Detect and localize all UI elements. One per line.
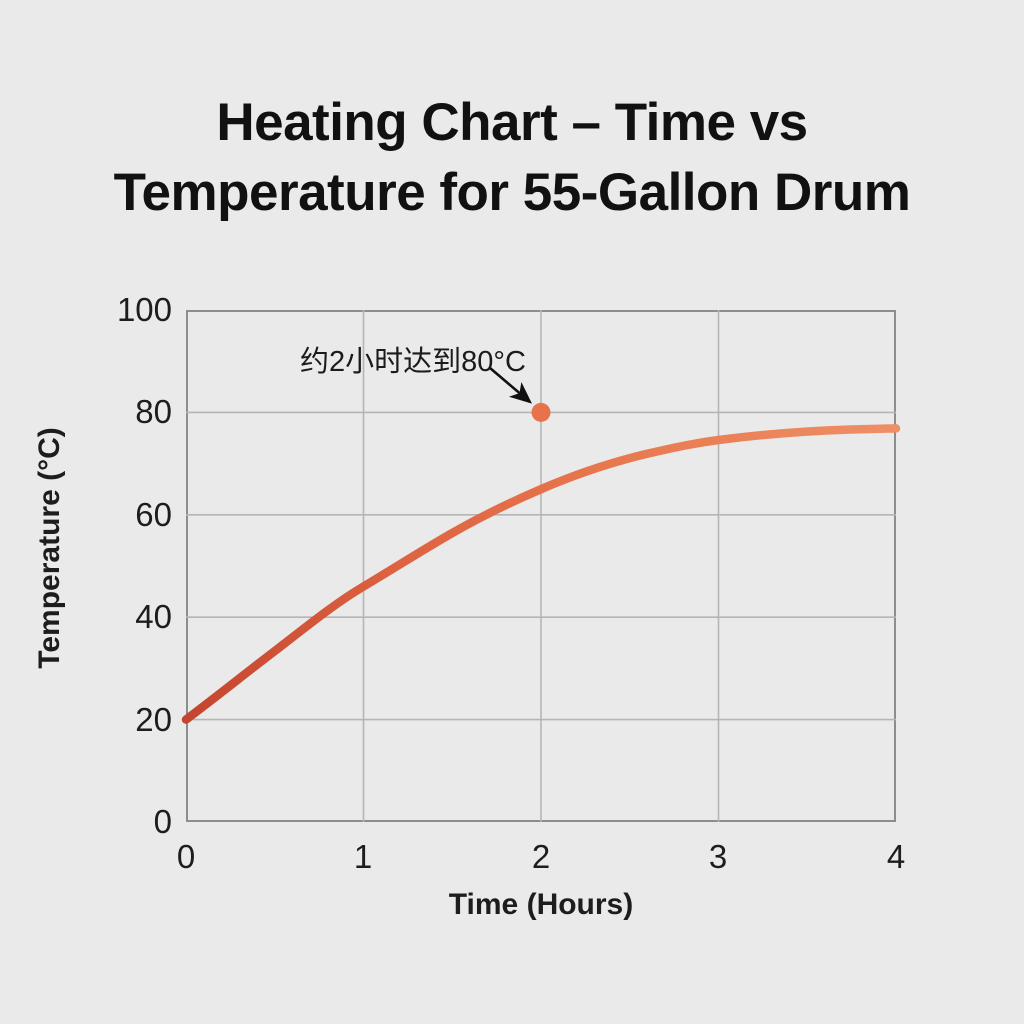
y-tick-20: 20 [102,701,172,739]
y-tick-100: 100 [102,291,172,329]
x-tick-3: 3 [688,838,748,876]
x-tick-1: 1 [333,838,393,876]
chart-plot-area [186,310,896,822]
x-tick-2: 2 [511,838,571,876]
y-tick-60: 60 [102,496,172,534]
marker-point-2h-80c [532,403,551,422]
x-tick-4: 4 [866,838,926,876]
page-title: Heating Chart – Time vs Temperature for … [0,88,1024,228]
x-tick-0: 0 [156,838,216,876]
y-tick-0: 0 [102,803,172,841]
gridlines-vertical [364,310,719,822]
y-axis-title: Temperature (°C) [33,338,67,758]
x-axis-title: Time (Hours) [186,888,896,922]
annotation-label: 约2小时达到80°C [300,338,526,380]
y-axis-tick-labels: 100 80 60 40 20 0 [100,310,172,822]
x-axis-tick-labels: 0 1 2 3 4 [186,838,896,882]
y-tick-80: 80 [102,393,172,431]
y-tick-40: 40 [102,598,172,636]
chart-page: Heating Chart – Time vs Temperature for … [0,0,1024,1024]
